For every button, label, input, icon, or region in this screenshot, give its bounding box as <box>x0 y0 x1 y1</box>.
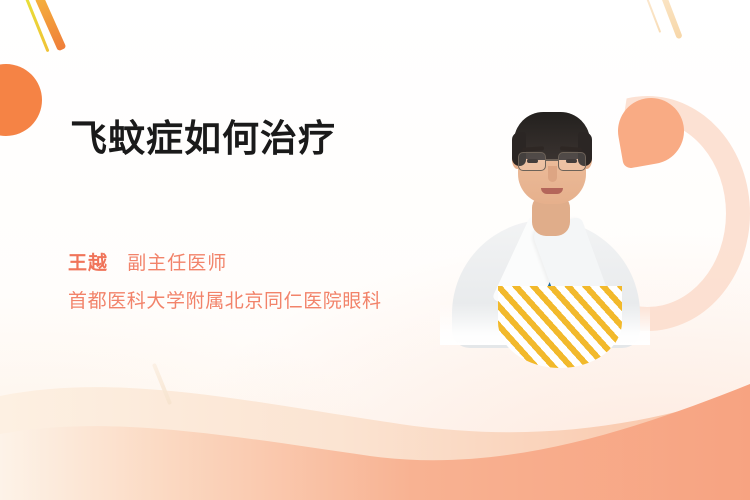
glasses-bridge <box>546 159 558 161</box>
page-title: 飞蚊症如何治疗 <box>70 116 336 162</box>
portrait-nose <box>548 166 557 182</box>
glasses-lens-right <box>558 152 586 171</box>
health-video-cover-card: 飞蚊症如何治疗 王越 副主任医师 首都医科大学附属北京同仁医院眼科 <box>0 0 750 500</box>
doctor-hospital: 首都医科大学附属北京同仁医院眼科 <box>68 288 386 315</box>
glasses-lens-left <box>518 152 546 171</box>
doctor-credentials: 王越 副主任医师 <box>68 250 227 278</box>
doctor-name: 王越 <box>68 253 108 274</box>
salmon-wave <box>0 370 750 500</box>
doctor-job-title: 副主任医师 <box>127 253 227 274</box>
portrait-mouth <box>541 188 563 194</box>
